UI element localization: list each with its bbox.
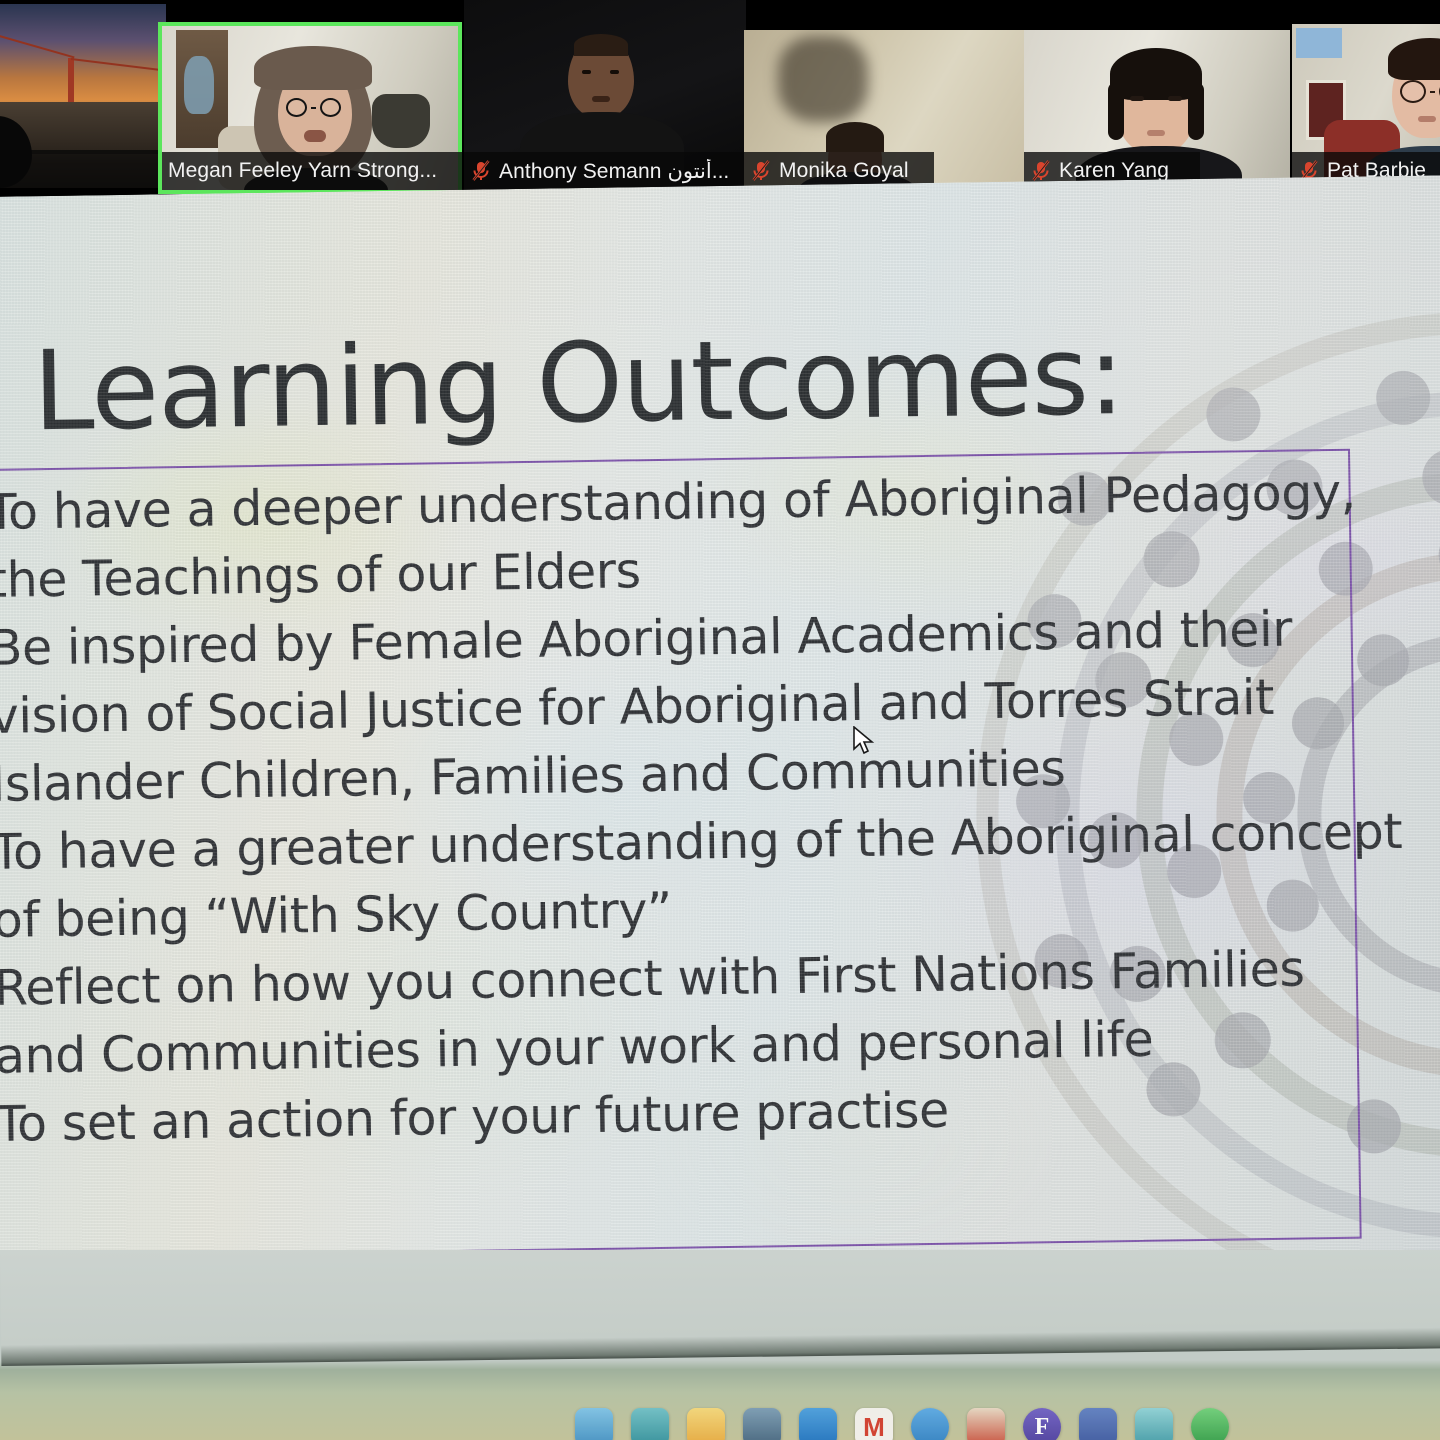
microphone-muted-icon bbox=[470, 159, 492, 183]
photos-icon[interactable] bbox=[1135, 1408, 1173, 1440]
santa-icon[interactable] bbox=[967, 1408, 1005, 1440]
settings-icon[interactable] bbox=[743, 1408, 781, 1440]
participant-tile-qvi[interactable]: qvi bbox=[0, 4, 166, 188]
macos-dock[interactable]: M F bbox=[575, 1394, 1229, 1440]
zoom-participant-filmstrip: qvi Megan Fee bbox=[0, 0, 1440, 196]
facebook-icon[interactable]: F bbox=[1023, 1408, 1061, 1440]
notes-icon[interactable] bbox=[687, 1408, 725, 1440]
participant-tile-pat-barbie[interactable]: Pat Barbie bbox=[1292, 24, 1440, 190]
zoom-icon[interactable] bbox=[799, 1408, 837, 1440]
participant-tile-karen-yang[interactable]: Karen Yang bbox=[1024, 30, 1290, 190]
participant-name-qvi: qvi bbox=[0, 150, 166, 188]
spotify-icon[interactable] bbox=[1191, 1408, 1229, 1440]
microphone-muted-icon bbox=[1030, 159, 1052, 183]
participant-name-anthony-semann: Anthony Semann أنتون... bbox=[464, 152, 746, 190]
finder-icon[interactable] bbox=[575, 1408, 613, 1440]
participant-tile-monika-goyal[interactable]: Monika Goyal bbox=[744, 30, 1030, 190]
microphone-muted-icon bbox=[750, 159, 772, 183]
screen-photo: qvi Megan Fee bbox=[0, 0, 1440, 1440]
presentation-slide: Learning Outcomes: To have a deeper unde… bbox=[0, 175, 1440, 1283]
chrome-icon[interactable] bbox=[911, 1408, 949, 1440]
teams-icon[interactable] bbox=[1079, 1408, 1117, 1440]
participant-tile-megan-feeley[interactable]: Megan Feeley Yarn Strong... bbox=[158, 22, 462, 194]
laptop-screen-edge bbox=[0, 1250, 1440, 1366]
screen-scanline-texture-v bbox=[0, 175, 1440, 1283]
participant-tile-anthony-semann[interactable]: Anthony Semann أنتون... bbox=[464, 0, 746, 190]
shared-slide-region: Learning Outcomes: To have a deeper unde… bbox=[0, 175, 1440, 1283]
participant-name-megan-feeley: Megan Feeley Yarn Strong... bbox=[162, 152, 462, 190]
gmail-icon[interactable]: M bbox=[855, 1408, 893, 1440]
desktop-below-slide: M F bbox=[0, 1250, 1440, 1440]
launchpad-icon[interactable] bbox=[631, 1408, 669, 1440]
